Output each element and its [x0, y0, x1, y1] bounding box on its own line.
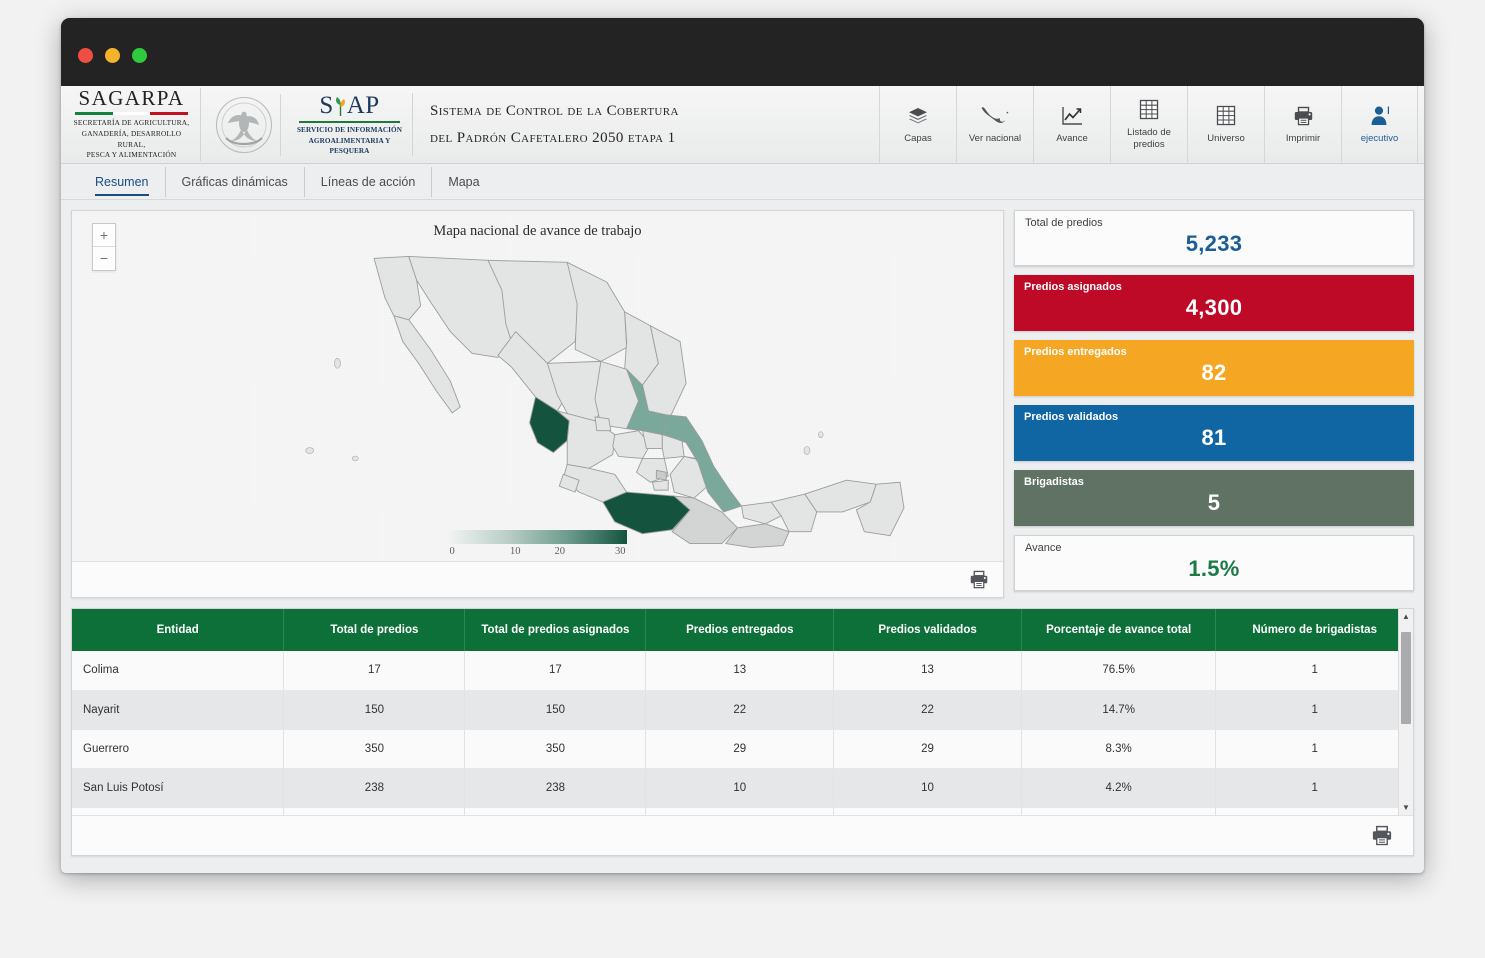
printer-icon [1293, 104, 1314, 127]
cell-brigadistas: 1 [1216, 690, 1413, 729]
kpi-card-total-de-predios: Total de predios 5,233 [1014, 210, 1414, 266]
tab-resumen[interactable]: Resumen [79, 167, 166, 197]
kpi-value: 82 [1014, 360, 1414, 386]
kpi-label: Brigadistas [1024, 476, 1084, 488]
kpi-label: Predios entregados [1024, 346, 1127, 358]
table-panel-footer [72, 815, 1413, 855]
cell-avance: 4.2% [1021, 768, 1215, 807]
app-header: SAGARPA SECRETARÍA DE AGRICULTURA, GANAD… [61, 86, 1424, 164]
toolbar-button-listado-de-predios[interactable]: Listado de predios [1110, 86, 1187, 163]
state-cdmx [656, 470, 666, 480]
tab-lineas-de-accion[interactable]: Líneas de acción [305, 167, 433, 197]
kpi-card-predios-asignados: Predios asignados 4,300 [1014, 275, 1414, 331]
page-title-line1: Sistema de Control de la Cobertura [430, 98, 679, 124]
cell-total: 350 [284, 729, 465, 768]
map-zoom-controls: + − [92, 223, 116, 271]
table-header-row: Entidad Total de predios Total de predio… [72, 609, 1413, 651]
kpi-value: 5,233 [1015, 231, 1413, 257]
app-viewport: SAGARPA SECRETARÍA DE AGRICULTURA, GANAD… [61, 86, 1424, 873]
column-header-entidad[interactable]: Entidad [72, 609, 284, 651]
scroll-up-arrow-icon[interactable]: ▲ [1399, 609, 1413, 624]
corn-leaf-icon [334, 96, 347, 117]
close-button[interactable] [78, 48, 93, 63]
sagarpa-logo: SAGARPA SECRETARÍA DE AGRICULTURA, GANAD… [73, 88, 201, 160]
toolbar-label: Imprimir [1286, 133, 1320, 145]
entities-table: Entidad Total de predios Total de predio… [72, 609, 1413, 815]
window-titlebar [61, 18, 1424, 86]
toolbar-button-user-ejecutivo[interactable]: ejecutivo [1341, 86, 1418, 163]
toolbar-label: Ver nacional [969, 133, 1021, 145]
toolbar-label: Universo [1207, 133, 1245, 145]
map-legend: 0 10 20 30 [449, 530, 627, 557]
mexico-map-icon [980, 104, 1010, 127]
siap-rule [299, 121, 400, 124]
application-window: SAGARPA SECRETARÍA DE AGRICULTURA, GANAD… [61, 18, 1424, 873]
page-title-line2: del Padrón Cafetalero 2050 etapa 1 [430, 125, 679, 151]
mexico-choropleth-map[interactable] [72, 245, 1003, 555]
table-row: Guerrero 350 350 29 29 8.3% 1 [72, 729, 1413, 768]
map-panel: Mapa nacional de avance de trabajo + − [71, 210, 1004, 598]
cell-validados: 29 [834, 729, 1022, 768]
tab-mapa[interactable]: Mapa [432, 167, 495, 197]
siap-subtitle: SERVICIO DE INFORMACIÓN AGROALIMENTARIA … [295, 125, 404, 156]
column-header-porcentaje-avance[interactable]: Porcentaje de avance total [1021, 609, 1215, 651]
toolbar-button-universo[interactable]: Universo [1187, 86, 1264, 163]
cell-asignados: 17 [465, 651, 646, 690]
column-header-total-asignados[interactable]: Total de predios asignados [465, 609, 646, 651]
island-marker [804, 447, 810, 455]
toolbar-button-avance[interactable]: Avance [1033, 86, 1110, 163]
maximize-button[interactable] [132, 48, 147, 63]
siap-logo: SAP SERVICIO DE INFORMACIÓN AGROALIMENTA… [287, 93, 413, 157]
kpi-value: 1.5% [1015, 556, 1413, 582]
mexican-flag-bars [75, 112, 188, 115]
table-row: Nayarit 150 150 22 22 14.7% 1 [72, 690, 1413, 729]
cell-validados: 22 [834, 690, 1022, 729]
cell-brigadistas: 1 [1216, 768, 1413, 807]
toolbar-label: ejecutivo [1361, 133, 1399, 145]
cell-entregados: 10 [646, 768, 834, 807]
table-print-button[interactable] [1371, 825, 1393, 846]
kpi-column: Total de predios 5,233 Predios asignados… [1014, 210, 1414, 598]
cell-validados: 10 [834, 768, 1022, 807]
sagarpa-subtitle: SECRETARÍA DE AGRICULTURA, GANADERÍA, DE… [73, 118, 190, 160]
legend-tick: 10 [493, 546, 538, 557]
siap-wordmark: SAP [295, 93, 404, 118]
cell-avance: 14.7% [1021, 690, 1215, 729]
content-area: Mapa nacional de avance de trabajo + − [61, 200, 1424, 598]
kpi-label: Predios validados [1024, 411, 1118, 423]
column-header-predios-entregados[interactable]: Predios entregados [646, 609, 834, 651]
kpi-label: Predios asignados [1024, 281, 1122, 293]
legend-tick-labels: 0 10 20 30 [449, 546, 627, 557]
table-vertical-scrollbar[interactable]: ▲ ▼ [1398, 609, 1413, 815]
state-aguascalientes [595, 417, 611, 431]
cell-total: 150 [284, 690, 465, 729]
table-body: Colima 17 17 13 13 76.5% 1 Nayarit 150 1… [72, 651, 1413, 815]
cell-brigadistas: 1 [1216, 729, 1413, 768]
user-icon [1370, 104, 1390, 127]
layers-icon [907, 104, 929, 127]
toolbar-label: Avance [1056, 133, 1088, 145]
cell-entidad: Colima [72, 651, 284, 690]
island-marker [352, 456, 358, 461]
column-header-predios-validados[interactable]: Predios validados [834, 609, 1022, 651]
toolbar-button-capas[interactable]: Capas [879, 86, 956, 163]
map-panel-footer [72, 561, 1003, 597]
scrollbar-track[interactable] [1399, 624, 1413, 800]
state-morelos [652, 480, 668, 490]
map-print-button[interactable] [969, 570, 989, 589]
scroll-down-arrow-icon[interactable]: ▼ [1399, 800, 1413, 815]
header-toolbar: Capas Ver nacional [879, 86, 1424, 163]
cell-total: 17 [284, 651, 465, 690]
kpi-label: Total de predios [1025, 217, 1103, 229]
kpi-card-predios-validados: Predios validados 81 [1014, 405, 1414, 461]
cell-entidad: Guerrero [72, 729, 284, 768]
island-marker [306, 448, 314, 454]
branding-block: SAGARPA SECRETARÍA DE AGRICULTURA, GANAD… [61, 86, 413, 163]
cell-asignados: 150 [465, 690, 646, 729]
kpi-card-brigadistas: Brigadistas 5 [1014, 470, 1414, 526]
tab-graficas-dinamicas[interactable]: Gráficas dinámicas [166, 167, 305, 197]
table-grid-icon [1139, 98, 1159, 121]
column-header-total-de-predios[interactable]: Total de predios [284, 609, 465, 651]
zoom-out-button[interactable]: − [93, 247, 115, 270]
legend-tick: 0 [449, 546, 494, 557]
toolbar-button-imprimir[interactable]: Imprimir [1264, 86, 1341, 163]
table-row-partial [72, 807, 1413, 815]
cell-entregados: 29 [646, 729, 834, 768]
minimize-button[interactable] [105, 48, 120, 63]
scrollbar-thumb[interactable] [1401, 632, 1411, 724]
table-row: Colima 17 17 13 13 76.5% 1 [72, 651, 1413, 690]
kpi-card-predios-entregados: Predios entregados 82 [1014, 340, 1414, 396]
cell-avance: 8.3% [1021, 729, 1215, 768]
island-marker [818, 432, 823, 438]
cell-asignados: 238 [465, 768, 646, 807]
kpi-value: 4,300 [1014, 295, 1414, 321]
zoom-in-button[interactable]: + [93, 224, 115, 247]
kpi-label: Avance [1025, 542, 1062, 554]
toolbar-label: Listado de predios [1113, 127, 1185, 151]
cell-asignados: 350 [465, 729, 646, 768]
sagarpa-wordmark: SAGARPA [73, 88, 190, 109]
cell-entidad: Nayarit [72, 690, 284, 729]
legend-gradient-bar [449, 530, 627, 544]
column-header-numero-brigadistas[interactable]: Número de brigadistas [1216, 609, 1413, 651]
island-marker [334, 358, 340, 368]
kpi-value: 5 [1014, 490, 1414, 516]
cell-total: 238 [284, 768, 465, 807]
entities-table-panel: Entidad Total de predios Total de predio… [71, 608, 1414, 856]
table-row: San Luis Potosí 238 238 10 10 4.2% 1 [72, 768, 1413, 807]
cell-entregados: 13 [646, 651, 834, 690]
kpi-card-avance: Avance 1.5% [1014, 535, 1414, 591]
line-chart-icon [1061, 104, 1083, 127]
cell-avance: 76.5% [1021, 651, 1215, 690]
table-scroll-region[interactable]: Entidad Total de predios Total de predio… [72, 609, 1413, 815]
map-title: Mapa nacional de avance de trabajo [72, 223, 1003, 240]
legend-tick: 20 [538, 546, 583, 557]
toolbar-button-ver-nacional[interactable]: Ver nacional [956, 86, 1033, 163]
cell-entregados: 22 [646, 690, 834, 729]
toolbar-label: Capas [904, 133, 931, 145]
cell-validados: 13 [834, 651, 1022, 690]
legend-tick: 30 [582, 546, 627, 557]
kpi-value: 81 [1014, 425, 1414, 451]
main-tab-bar: Resumen Gráficas dinámicas Líneas de acc… [61, 164, 1424, 200]
cell-brigadistas: 1 [1216, 651, 1413, 690]
table-grid-icon [1216, 104, 1236, 127]
page-title: Sistema de Control de la Cobertura del P… [413, 86, 679, 163]
mexican-coat-of-arms-icon [207, 94, 281, 156]
cell-entidad: San Luis Potosí [72, 768, 284, 807]
